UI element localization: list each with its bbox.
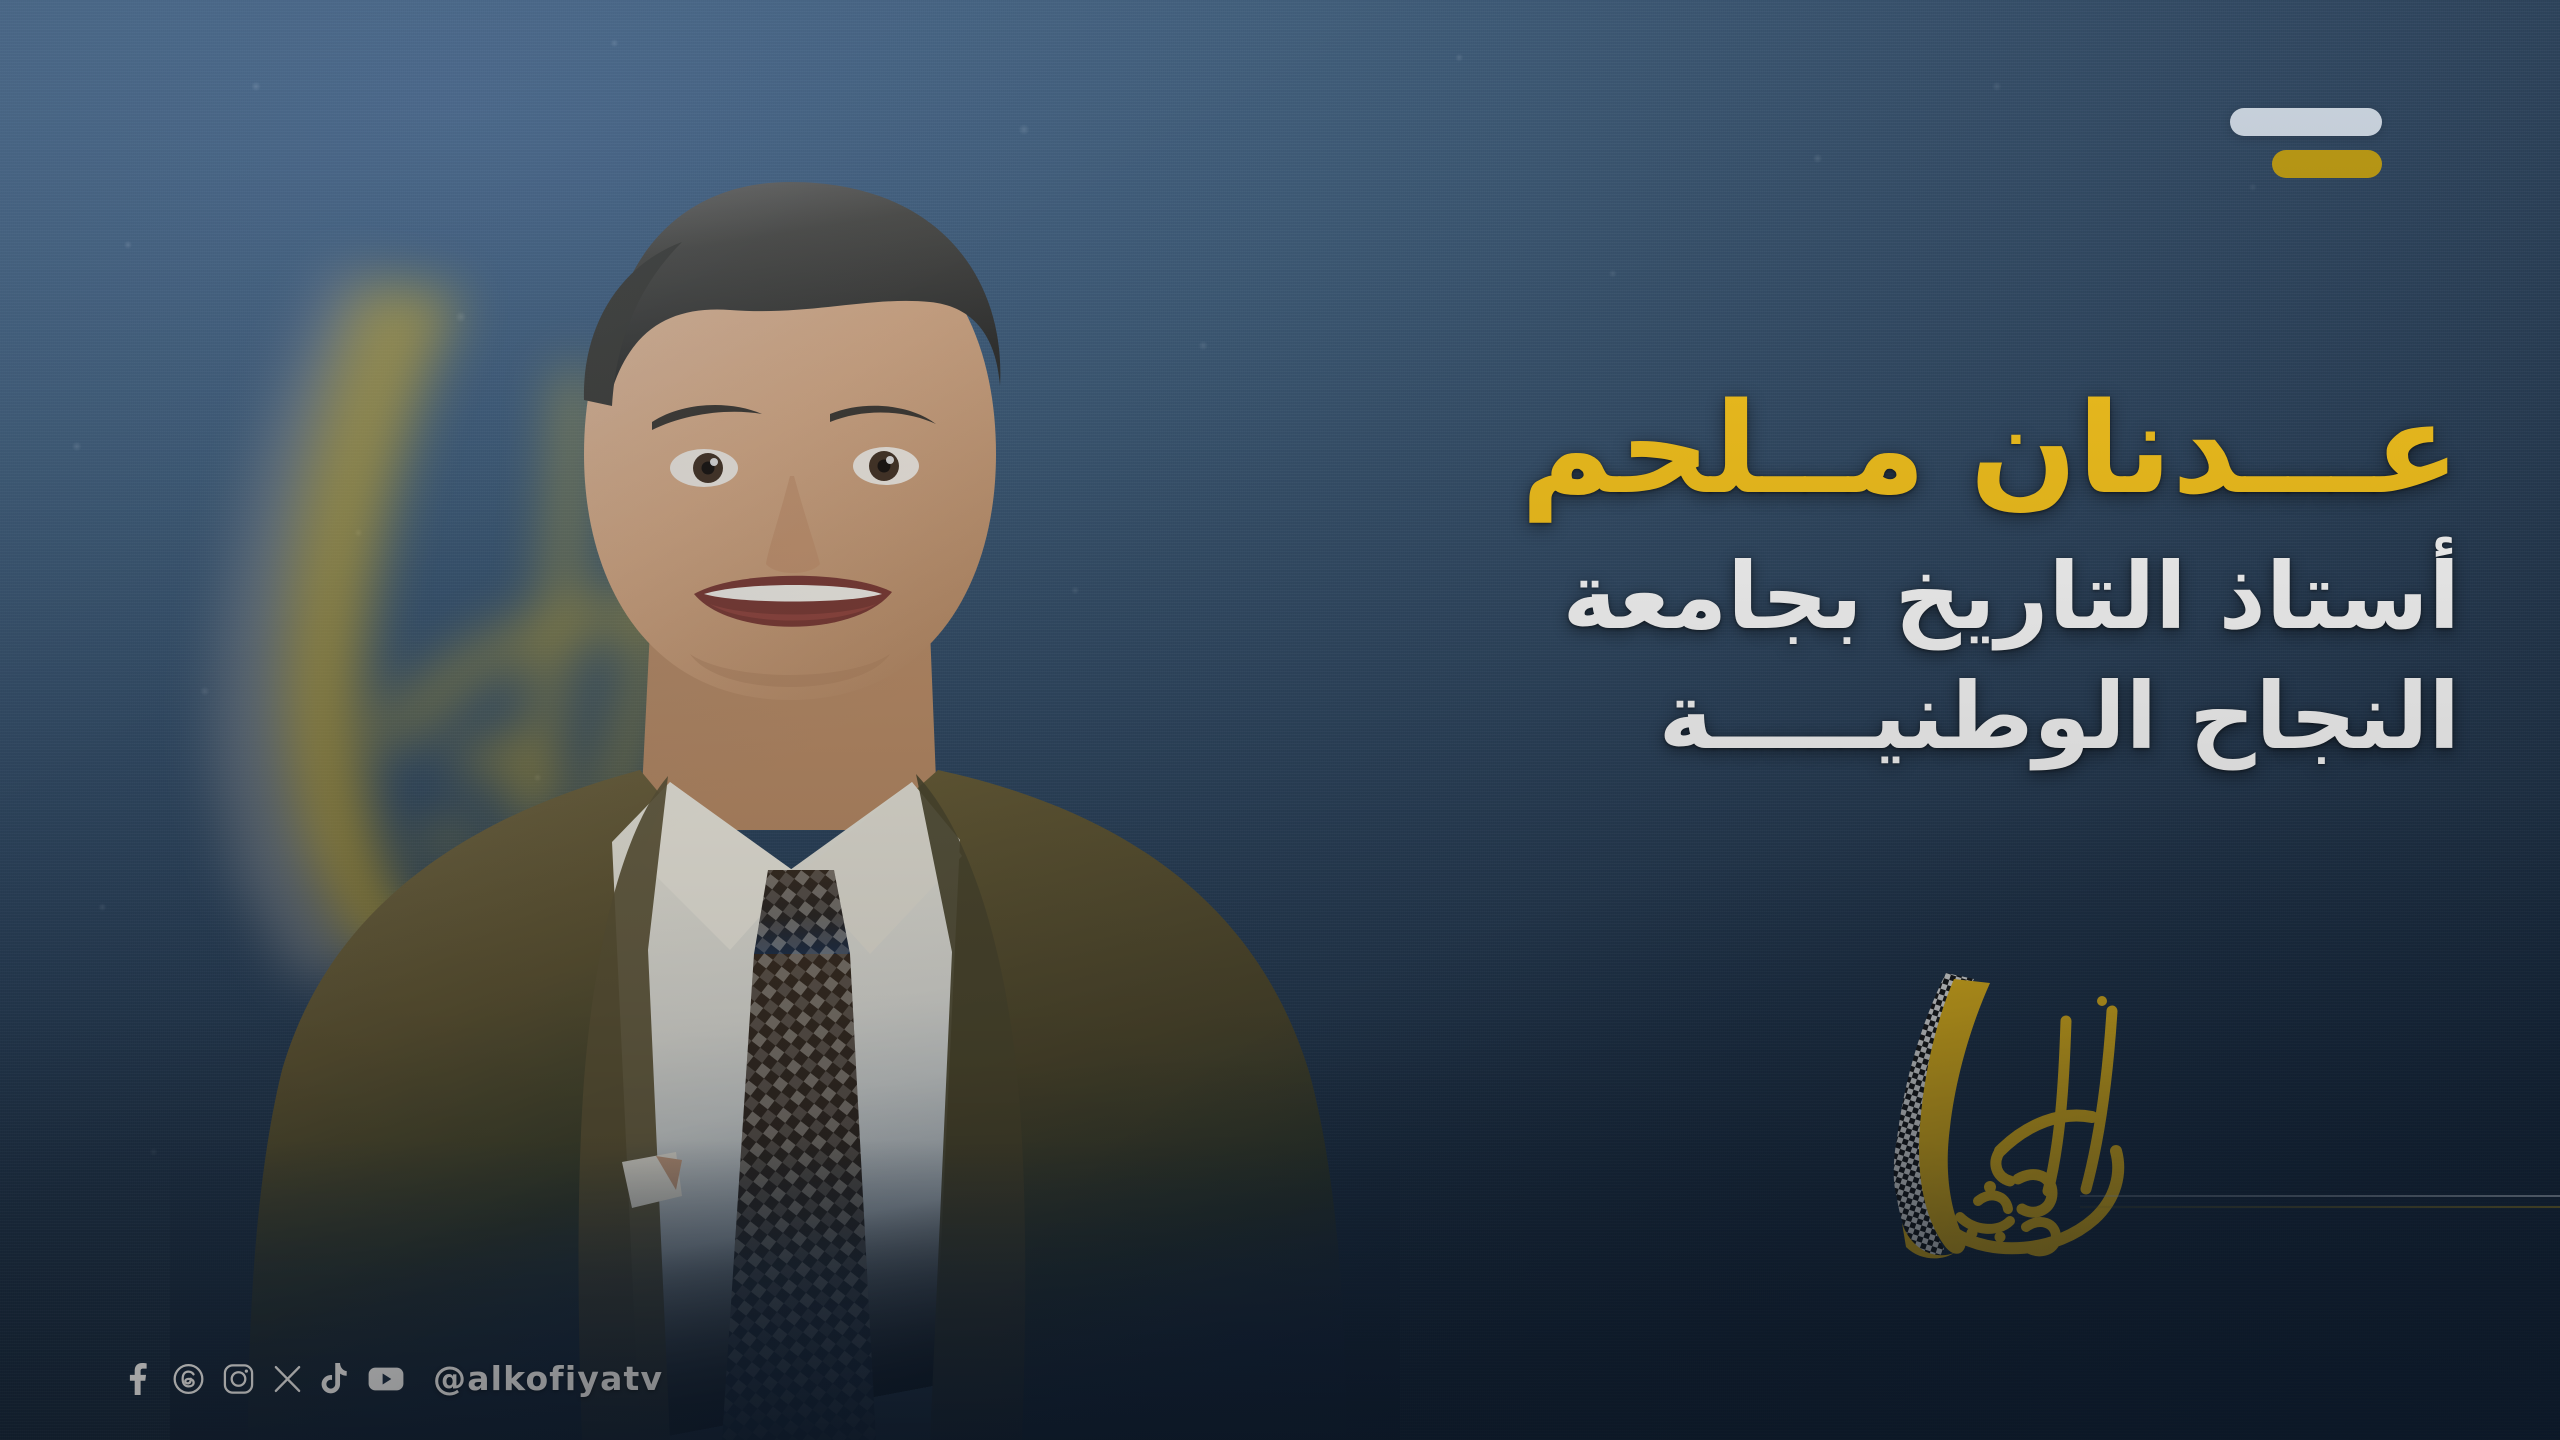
social-handle[interactable]: @alkofiyatv — [433, 1359, 663, 1398]
x-icon[interactable] — [273, 1364, 302, 1394]
guest-portrait — [170, 70, 1400, 1440]
subtitle-line-2: النجاح الوطنيـــــة — [1280, 657, 2460, 777]
subtitle-line-1: أستاذ التاريخ بجامعة — [1280, 537, 2460, 657]
social-bar: @alkofiyatv — [124, 1359, 663, 1398]
title-block: عـــدنان مــلحم أستاذ التاريخ بجامعة الن… — [1280, 378, 2460, 776]
logo-rules — [2080, 1195, 2560, 1208]
channel-logo — [1850, 965, 2170, 1265]
tiktok-icon[interactable] — [321, 1363, 349, 1395]
threads-icon[interactable] — [173, 1363, 204, 1395]
instagram-icon[interactable] — [223, 1363, 254, 1395]
rule-light — [2080, 1195, 2560, 1197]
youtube-icon[interactable] — [368, 1365, 404, 1393]
broadcast-graphic-canvas: عـــدنان مــلحم أستاذ التاريخ بجامعة الن… — [0, 0, 2560, 1440]
facebook-icon[interactable] — [124, 1363, 154, 1395]
rule-gold — [2080, 1206, 2560, 1208]
decorative-bar-light — [2230, 108, 2382, 136]
decorative-bar-gold — [2272, 150, 2382, 178]
page-title: عـــدنان مــلحم — [1280, 378, 2460, 519]
top-right-decorative-bars — [2132, 108, 2382, 178]
